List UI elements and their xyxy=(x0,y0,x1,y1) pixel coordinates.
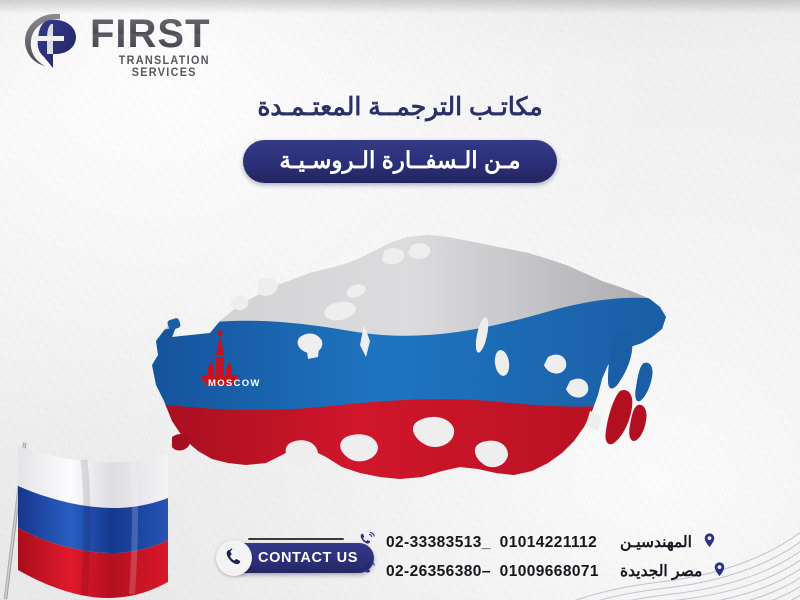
first-f-swoosh-icon xyxy=(20,8,86,74)
headline-badge: مـن الـسفــارة الـروسـيـة xyxy=(243,140,556,183)
brand-logo[interactable]: FIRST TRANSLATION SERVICES xyxy=(18,6,248,78)
location-name: المهندسيـن xyxy=(620,533,692,552)
location-row[interactable]: المهندسيـن xyxy=(620,528,790,557)
phone-handset-icon xyxy=(216,540,252,576)
headline-badge-wrap: مـن الـسفــارة الـروسـيـة xyxy=(0,140,800,183)
contact-button-underline xyxy=(248,538,344,540)
contact-us-label: CONTACT US xyxy=(258,550,358,566)
phone-number-mobile: 01014221112 xyxy=(500,534,598,552)
location-row[interactable]: مصر الجديدة xyxy=(620,557,790,586)
brand-tagline: TRANSLATION SERVICES xyxy=(90,55,239,79)
phone-number-primary: 02-26356380 xyxy=(386,563,482,581)
phone-ringing-icon xyxy=(358,531,377,555)
map-pin-icon xyxy=(701,532,718,554)
location-name: مصر الجديدة xyxy=(620,562,702,581)
poster-canvas: FIRST TRANSLATION SERVICES مكاتـب الترجم… xyxy=(0,0,800,600)
phone-list: 02-33383513 _ 01014221112 02-26356380 – … xyxy=(358,528,608,586)
phone-row[interactable]: 02-33383513 _ 01014221112 xyxy=(358,528,608,557)
russian-flag xyxy=(0,436,172,600)
logo-wordmark: FIRST TRANSLATION SERVICES xyxy=(90,14,248,79)
contact-us-button[interactable]: CONTACT US xyxy=(228,543,374,573)
headline-primary: مكاتـب الترجمــة المعتـمـدة xyxy=(0,92,800,122)
moscow-city-label: MOSCOW xyxy=(208,378,261,389)
phone-number-primary: 02-33383513 xyxy=(386,534,482,552)
phone-separator: – xyxy=(482,563,491,581)
map-pin-icon xyxy=(711,561,728,583)
phone-separator: _ xyxy=(482,534,491,552)
phone-row[interactable]: 02-26356380 – 01009668071 xyxy=(358,557,608,586)
phone-ringing-icon xyxy=(358,560,377,584)
location-list: المهندسيـن مصر الجديدة xyxy=(620,528,790,586)
brand-name: FIRST xyxy=(90,14,248,54)
phone-number-mobile: 01009668071 xyxy=(500,563,599,581)
